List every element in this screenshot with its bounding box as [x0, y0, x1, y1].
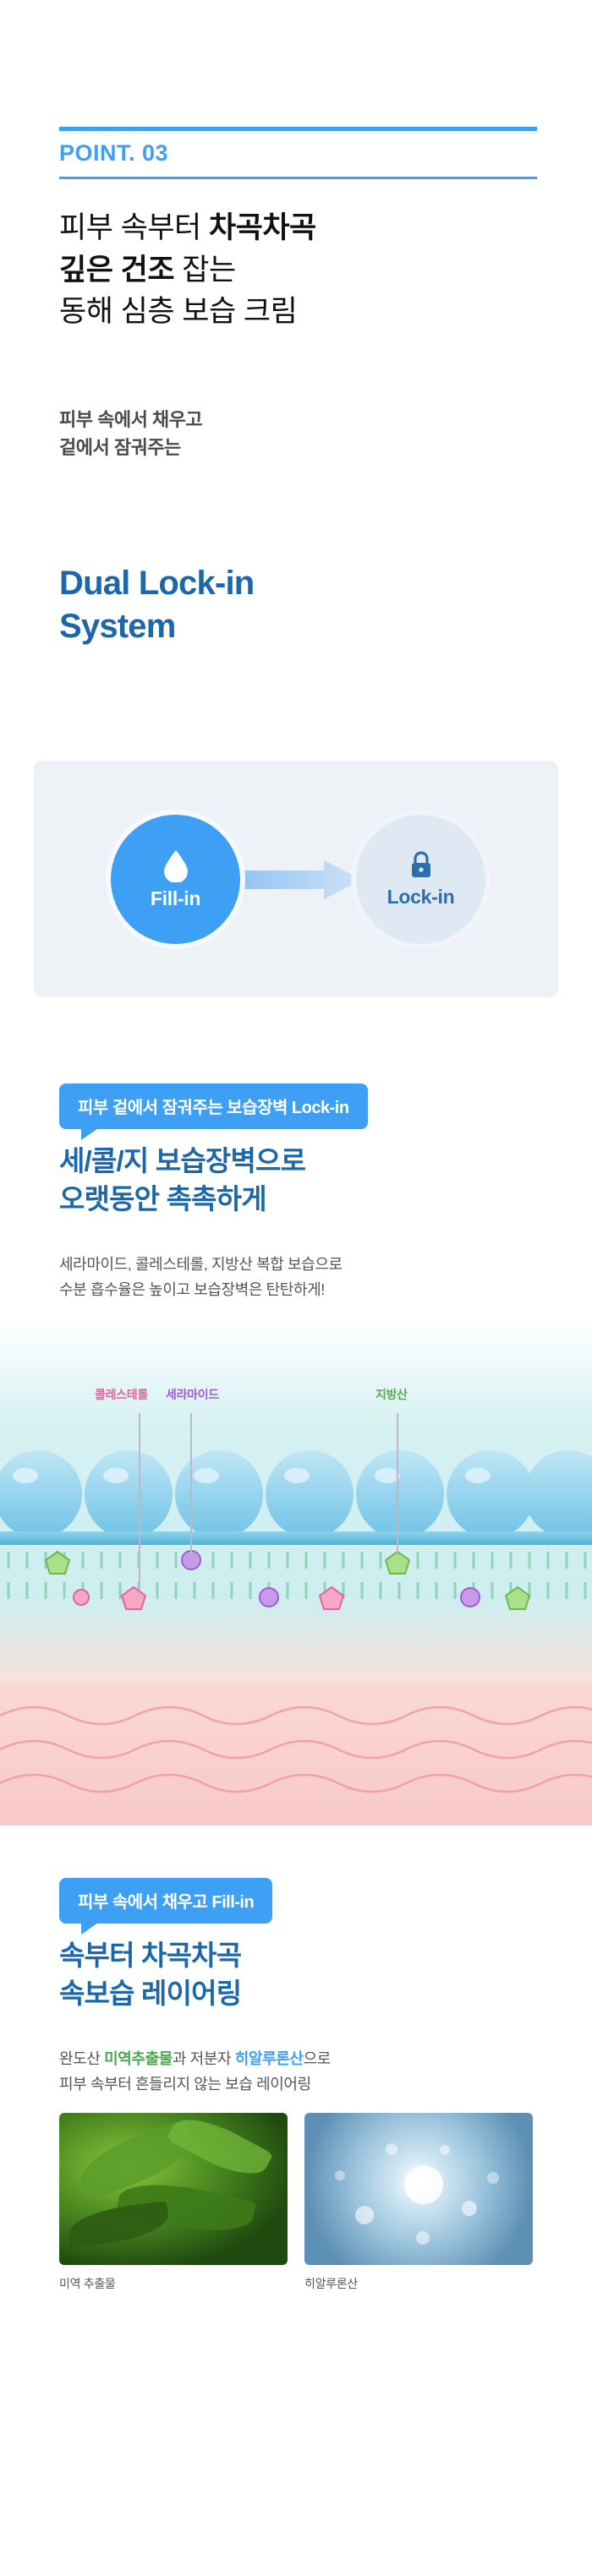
- point-label: POINT. 03: [59, 131, 537, 177]
- ingredient-caption-hyaluronic: 히알루론산: [304, 2275, 533, 2292]
- dual-lockin-title: Dual Lock-in System: [59, 562, 550, 648]
- headline-line2-plain: 잡는: [174, 254, 236, 287]
- dual-lockin-title-line-1: Dual Lock-in: [59, 562, 550, 605]
- fill-in-label: Fill-in: [151, 887, 200, 910]
- fill-in-section-bubble: 피부 속에서 채우고 Fill-in: [59, 1878, 272, 1924]
- callout-label-fatty-acid: 지방산: [375, 1386, 408, 1403]
- headline-line-3: 동해 심층 보습 크림: [59, 291, 550, 333]
- lock-icon: [408, 850, 434, 881]
- point-header: POINT. 03: [59, 127, 537, 179]
- subcopy-line-1: 피부 속에서 채우고: [59, 406, 550, 434]
- point-rule-bottom: [59, 177, 537, 179]
- fill-in-title-line-2: 속보습 레이어링: [59, 1975, 550, 2013]
- ingredient-caption-seaweed: 미역 추출물: [59, 2275, 288, 2292]
- lock-in-section-title: 세/콜/지 보습장벽으로 오랫동안 촉촉하게: [59, 1143, 550, 1218]
- fill-in-desc-suffix: 으로: [304, 2050, 331, 2067]
- water-drop-photo: [304, 2113, 533, 2265]
- fill-in-desc-line-1: 완도산 미역추출물과 저분자 히알루론산으로: [59, 2047, 558, 2072]
- product-detail-page: POINT. 03 피부 속부터 차곡차곡 깊은 건조 잡는 동해 심층 보습 …: [0, 0, 592, 2576]
- dual-lockin-title-line-2: System: [59, 605, 550, 648]
- fill-in-desc-highlight-seaweed: 미역추출물: [104, 2050, 173, 2067]
- fill-in-desc-highlight-hyaluronic: 히알루론산: [235, 2050, 304, 2067]
- lock-in-label: Lock-in: [387, 886, 455, 909]
- lock-in-title-line-2: 오랫동안 촉촉하게: [59, 1181, 550, 1219]
- lock-in-section-desc: 세라마이드, 콜레스테롤, 지방산 복합 보습으로 수분 흡수율은 높이고 보습…: [59, 1253, 558, 1302]
- lock-in-desc-line-1: 세라마이드, 콜레스테롤, 지방산 복합 보습으로: [59, 1253, 558, 1278]
- headline-line-2: 깊은 건조 잡는: [59, 249, 550, 292]
- fill-in-desc-line-2: 피부 속부터 흔들리지 않는 보습 레이어링: [59, 2072, 558, 2098]
- lock-in-section-bubble: 피부 겉에서 잠궈주는 보습장벽 Lock-in: [59, 1083, 368, 1129]
- water-drop-icon: [162, 849, 190, 882]
- headline-line-1: 피부 속부터 차곡차곡: [59, 207, 550, 249]
- seaweed-photo: [59, 2113, 288, 2265]
- dual-lockin-diagram: Fill-in Lock-in: [34, 761, 558, 997]
- subcopy: 피부 속에서 채우고 겉에서 잠궈주는: [59, 406, 550, 461]
- fill-in-section-title: 속부터 차곡차곡 속보습 레이어링: [59, 1937, 550, 2012]
- lipid-band: [0, 1531, 592, 1545]
- lock-in-circle: Lock-in: [351, 810, 491, 949]
- fill-in-desc-mid: 과 저분자: [173, 2050, 235, 2067]
- fill-in-title-line-1: 속부터 차곡차곡: [59, 1937, 550, 1975]
- fill-in-desc-prefix: 완도산: [59, 2050, 104, 2067]
- fill-in-circle: Fill-in: [106, 810, 245, 949]
- lock-in-title-line-1: 세/콜/지 보습장벽으로: [59, 1143, 550, 1181]
- headline-line1-plain: 피부 속부터: [59, 211, 209, 244]
- ingredient-photo-row: 미역 추출물 히알루론산: [59, 2113, 533, 2292]
- lock-in-desc-line-2: 수분 흡수율은 높이고 보습장벽은 탄탄하게!: [59, 1278, 558, 1303]
- callout-label-ceramide: 세라마이드: [166, 1386, 219, 1403]
- subcopy-line-2: 겉에서 잠궈주는: [59, 434, 550, 461]
- ingredient-card-hyaluronic: 히알루론산: [304, 2113, 533, 2292]
- dermis-capillaries: [0, 1707, 592, 1792]
- page-headline: 피부 속부터 차곡차곡 깊은 건조 잡는 동해 심층 보습 크림: [59, 207, 550, 333]
- skin-barrier-illustration: 콜레스테롤 세라마이드 지방산: [0, 1318, 592, 1826]
- fill-in-section-desc: 완도산 미역추출물과 저분자 히알루론산으로 피부 속부터 흔들리지 않는 보습…: [59, 2047, 558, 2097]
- headline-line1-bold: 차곡차곡: [209, 211, 316, 244]
- arrow-right-icon: [235, 860, 362, 899]
- headline-line2-bold: 깊은 건조: [59, 254, 174, 287]
- skin-layers-svg: [0, 1318, 592, 1826]
- ingredient-card-seaweed: 미역 추출물: [59, 2113, 288, 2292]
- callout-label-cholesterol: 콜레스테롤: [95, 1386, 148, 1403]
- corneocyte-cells: [0, 1450, 592, 1538]
- lipid-bilayer-hatch: [8, 1552, 585, 1599]
